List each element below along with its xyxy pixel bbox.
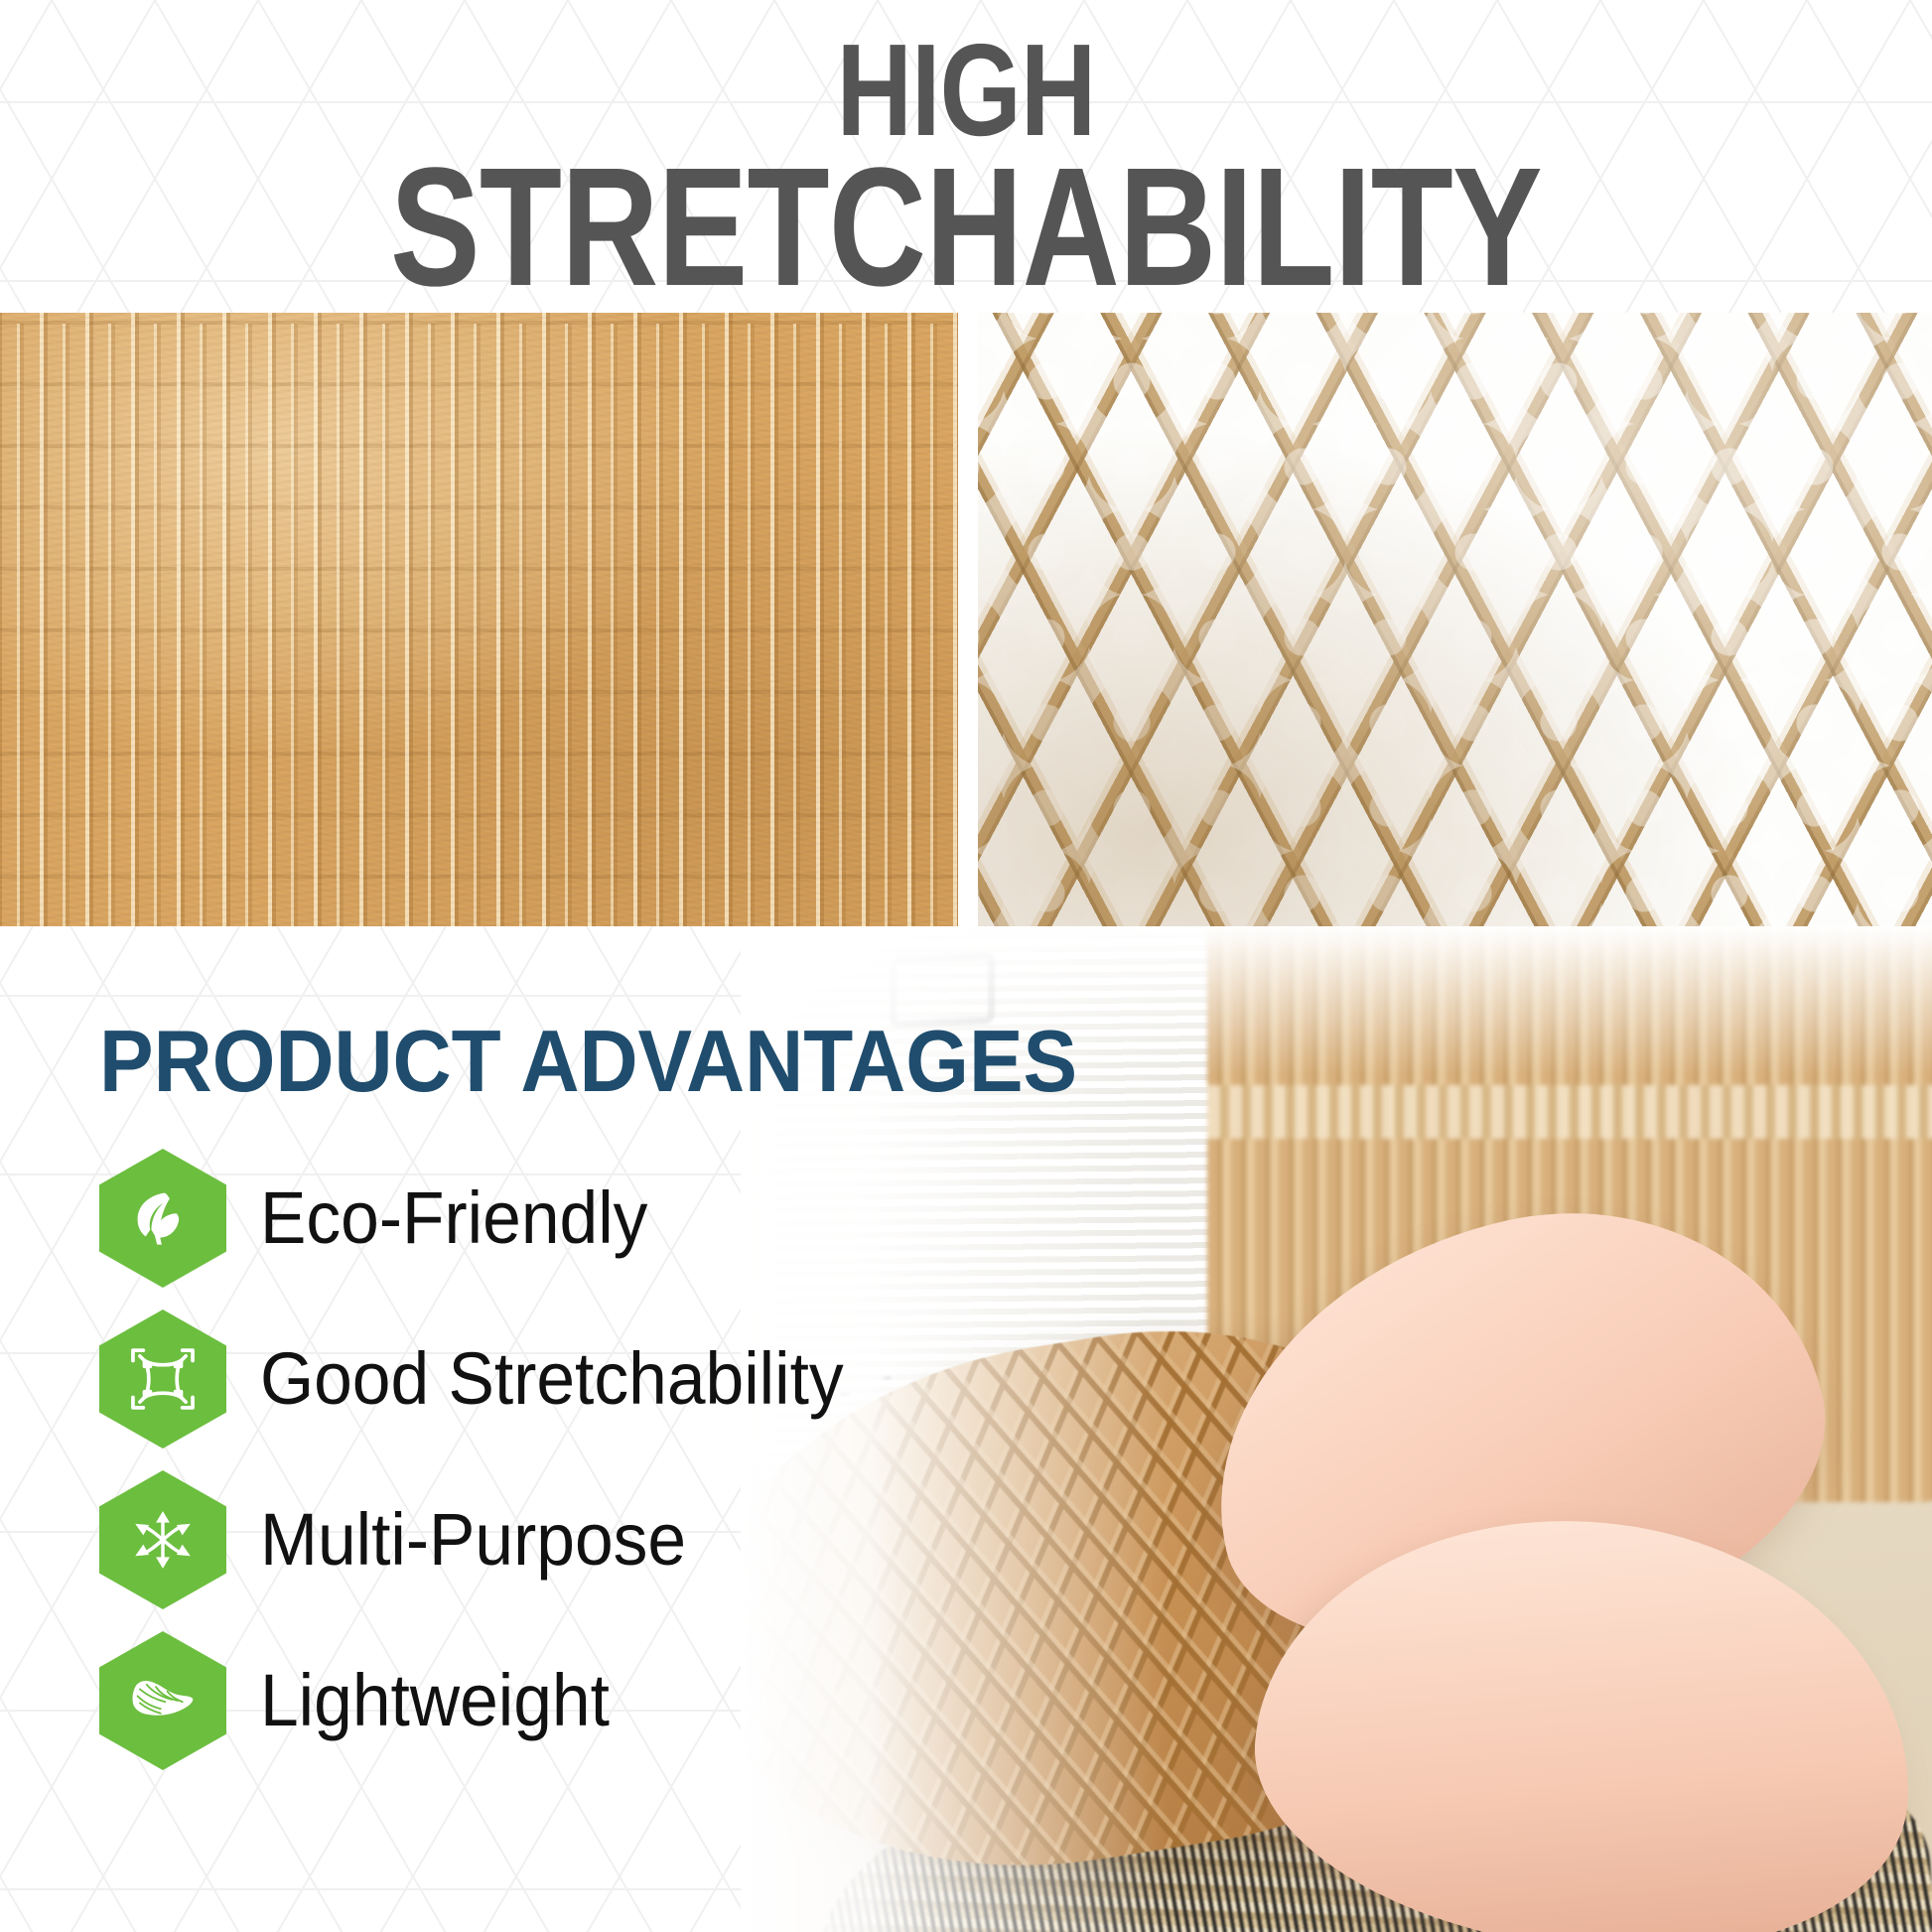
basket-rim	[1207, 1085, 1932, 1139]
advantages-list: Eco-Friendly Good Stretchability	[99, 1149, 1151, 1770]
advantages-heading: PRODUCT ADVANTAGES	[99, 1018, 1077, 1105]
advantage-label: Multi-Purpose	[260, 1503, 686, 1577]
photo-expanded-honeycomb	[978, 313, 1932, 926]
photo-unexpanded-honeycomb	[0, 313, 958, 926]
advantage-badge	[99, 1149, 226, 1288]
page-title-line-2: STRETCHABILITY	[390, 150, 1542, 305]
advantage-label: Good Stretchability	[260, 1342, 844, 1416]
feather-icon	[126, 1664, 200, 1737]
leaf-icon	[126, 1181, 200, 1255]
advantage-label: Lightweight	[260, 1664, 610, 1737]
advantage-item-lightweight: Lightweight	[99, 1631, 1151, 1770]
advantage-item-eco-friendly: Eco-Friendly	[99, 1149, 1151, 1288]
product-photo-band	[0, 313, 1932, 926]
advantage-label: Eco-Friendly	[260, 1181, 647, 1255]
page-title-line-1: HIGH	[837, 30, 1096, 150]
advantage-item-stretchability: Good Stretchability	[99, 1310, 1151, 1449]
photo-lighting-overlay	[978, 313, 1932, 926]
advantage-badge	[99, 1310, 226, 1449]
header: HIGH STRETCHABILITY	[0, 0, 1932, 313]
product-advantages-section: PRODUCT ADVANTAGES Eco-Friendly	[99, 1018, 1151, 1770]
advantage-badge	[99, 1631, 226, 1770]
kraft-paper-grain	[0, 313, 958, 926]
infographic-page: HIGH STRETCHABILITY	[0, 0, 1932, 1932]
stretch-arrows-icon	[126, 1342, 200, 1416]
advantage-badge	[99, 1470, 226, 1609]
multi-direction-arrows-icon	[126, 1503, 200, 1577]
advantage-item-multi-purpose: Multi-Purpose	[99, 1470, 1151, 1609]
